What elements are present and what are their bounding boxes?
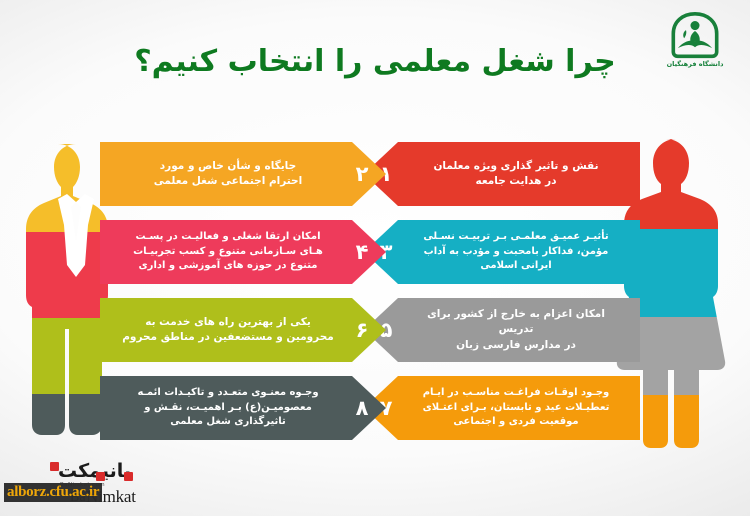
arrow-number-4: ۴ xyxy=(342,220,382,284)
arrow-item-4[interactable]: ۴ امکان ارتقا شغلی و فعالیـت در پسـت هـا… xyxy=(100,220,386,284)
arrow-number-2: ۲ xyxy=(342,142,382,206)
arrow-item-5[interactable]: ۵ امکان اعزام به خارج از کشور برای تدریس… xyxy=(364,298,640,362)
logo-caption: دانشگاه فرهنگیان xyxy=(667,60,724,68)
brand-dot-icon xyxy=(96,472,105,481)
arrow-text-5: امکان اعزام به خارج از کشور برای تدریس د… xyxy=(408,307,624,353)
arrow-row: ۱ نقش و تاثیر گذاری ویژه معلمان در هدایت… xyxy=(0,136,750,214)
arrow-item-3[interactable]: ۳ تأثیـر عمیـق معلمـی بـر تربیـت نسـلی م… xyxy=(364,220,640,284)
arrow-list: ۱ نقش و تاثیر گذاری ویژه معلمان در هدایت… xyxy=(0,136,750,448)
arrow-item-7[interactable]: ۷ وجـود اوقـات فراغـت مناسـب در ایـام تع… xyxy=(364,376,640,440)
arrow-text-1: نقش و تاثیر گذاری ویژه معلمان در هدایت ج… xyxy=(408,159,624,189)
arrow-row: ۳ تأثیـر عمیـق معلمـی بـر تربیـت نسـلی م… xyxy=(0,214,750,292)
arrow-item-6[interactable]: ۶ یکی از بهترین راه های خدمت به محرومین … xyxy=(100,298,386,362)
arrow-text-4: امکان ارتقا شغلی و فعالیـت در پسـت هـای … xyxy=(116,230,340,274)
arrow-text-7: وجـود اوقـات فراغـت مناسـب در ایـام تعطی… xyxy=(408,386,624,430)
arrow-item-1[interactable]: ۱ نقش و تاثیر گذاری ویژه معلمان در هدایت… xyxy=(364,142,640,206)
header: چرا شغل معلمی را انتخاب کنیم؟ دانشگاه فر… xyxy=(0,0,750,108)
brand-dot-icon xyxy=(50,462,59,471)
arrow-number-6: ۶ xyxy=(342,298,382,362)
arrow-text-6: یکی از بهترین راه های خدمت به محرومین و … xyxy=(116,315,340,345)
footer: بانیمکت BaNimkat.com Ba Nimkat alborz.cf… xyxy=(0,456,750,516)
brand-name-fa: بانیمکت xyxy=(58,460,131,482)
arrow-row: ۷ وجـود اوقـات فراغـت مناسـب در ایـام تع… xyxy=(0,370,750,448)
arrow-item-8[interactable]: ۸ وجـوه معنـوی متعـدد و تاکیـدات ائمـه م… xyxy=(100,376,386,440)
site-watermark: alborz.cfu.ac.ir xyxy=(4,483,102,502)
arrow-text-3: تأثیـر عمیـق معلمـی بـر تربیـت نسـلی مؤم… xyxy=(408,230,624,274)
arrow-number-8: ۸ xyxy=(342,376,382,440)
farhangian-university-logo: دانشگاه فرهنگیان xyxy=(658,12,732,82)
arrow-text-2: جایگاه و شأن خاص و مورد احترام اجتماعی ش… xyxy=(116,159,340,189)
page-title: چرا شغل معلمی را انتخاب کنیم؟ xyxy=(0,44,750,79)
infographic-canvas: چرا شغل معلمی را انتخاب کنیم؟ دانشگاه فر… xyxy=(0,0,750,516)
brand-dot-icon xyxy=(124,472,133,481)
arrow-text-8: وجـوه معنـوی متعـدد و تاکیـدات ائمـه معص… xyxy=(116,386,340,430)
arrow-item-2[interactable]: ۲ جایگاه و شأن خاص و مورد احترام اجتماعی… xyxy=(100,142,386,206)
arrow-row: ۵ امکان اعزام به خارج از کشور برای تدریس… xyxy=(0,292,750,370)
